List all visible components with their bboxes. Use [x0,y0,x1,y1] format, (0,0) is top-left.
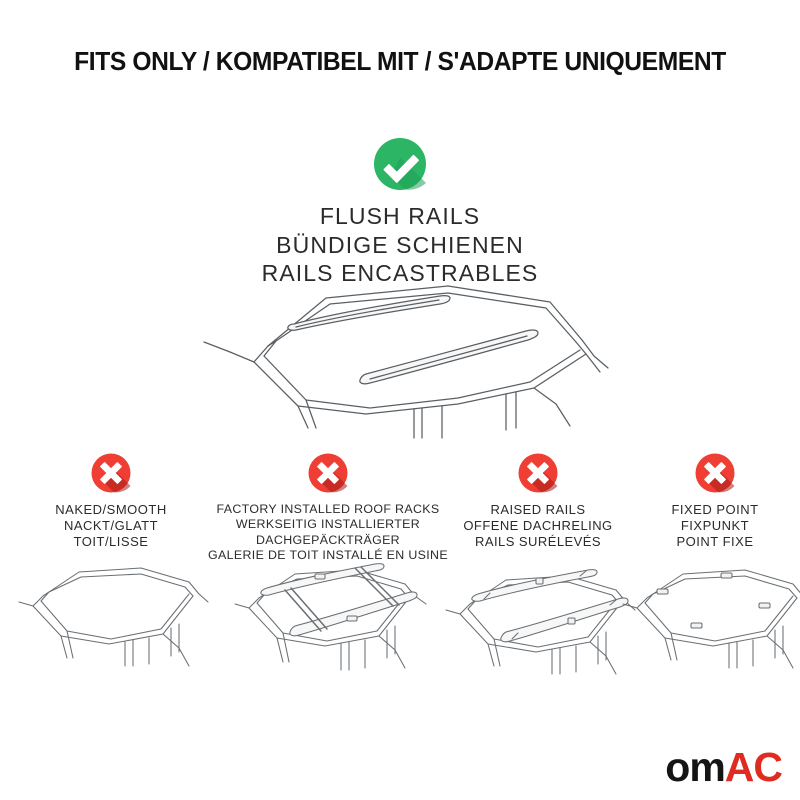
car-roof-factory-roof-racks-art [223,540,433,680]
incompatible-label-2-line-1: FACTORY INSTALLED ROOF RACKS [207,502,449,517]
car-roof-factory-roof-racks-illustration [223,540,433,670]
incompatible-item-naked-smooth: NAKED/SMOOTH NACKT/GLATT TOIT/LISSE [8,452,214,550]
x-circle-icon [517,452,559,494]
x-circle-icon-wrap-3 [517,452,559,494]
car-roof-raised-rails-art [440,554,636,684]
omac-logo-part-ac: AC [725,744,782,790]
compatibility-infographic: FITS ONLY / KOMPATIBEL MIT / S'ADAPTE UN… [0,0,800,800]
car-roof-flush-rails-illustration [190,278,610,438]
x-circle-icon [307,452,349,494]
incompatible-section: NAKED/SMOOTH NACKT/GLATT TOIT/LISSE [0,452,800,702]
omac-logo-text: omAC [632,746,782,800]
x-circle-icon-wrap-2 [307,452,349,494]
car-roof-flush-rails-art [190,278,610,438]
incompatible-label-4-line-2: FIXPUNKT [630,518,800,534]
check-circle-icon-wrap [372,136,428,192]
car-roof-naked-smooth-illustration [13,554,209,684]
x-circle-icon [694,452,736,494]
check-circle-icon [372,136,428,192]
incompatible-label-2-line-2: WERKSEITIG INSTALLIERTER [207,517,449,532]
incompatible-label-1-line-3: TOIT/LISSE [8,534,214,550]
compatible-section: FLUSH RAILS BÜNDIGE SCHIENEN RAILS ENCAS… [0,136,800,288]
x-circle-icon [90,452,132,494]
car-roof-fixed-point-illustration [617,554,800,684]
incompatible-labels-1: NAKED/SMOOTH NACKT/GLATT TOIT/LISSE [8,502,214,550]
incompatible-label-4-line-1: FIXED POINT [630,502,800,518]
incompatible-label-3-line-3: RAILS SURÉLEVÉS [443,534,633,550]
omac-logo: omAC [632,746,782,788]
incompatible-labels-4: FIXED POINT FIXPUNKT POINT FIXE [630,502,800,550]
car-roof-fixed-point-art [617,554,800,684]
incompatible-label-3-line-1: RAISED RAILS [443,502,633,518]
compatible-label-line-1: FLUSH RAILS [0,202,800,231]
incompatible-label-1-line-1: NAKED/SMOOTH [8,502,214,518]
incompatible-label-4-line-3: POINT FIXE [630,534,800,550]
header: FITS ONLY / KOMPATIBEL MIT / S'ADAPTE UN… [0,48,800,77]
omac-logo-part-om: om [665,744,725,790]
incompatible-labels-3: RAISED RAILS OFFENE DACHRELING RAILS SUR… [443,502,633,550]
incompatible-item-fixed-point: FIXED POINT FIXPUNKT POINT FIXE [630,452,800,550]
incompatible-label-3-line-2: OFFENE DACHRELING [443,518,633,534]
page-title: FITS ONLY / KOMPATIBEL MIT / S'ADAPTE UN… [14,48,786,77]
car-roof-naked-smooth-art [13,554,209,684]
incompatible-label-1-line-2: NACKT/GLATT [8,518,214,534]
car-roof-raised-rails-illustration [440,554,636,684]
compatible-label-line-2: BÜNDIGE SCHIENEN [0,231,800,260]
incompatible-item-raised-rails: RAISED RAILS OFFENE DACHRELING RAILS SUR… [443,452,633,550]
compatible-labels: FLUSH RAILS BÜNDIGE SCHIENEN RAILS ENCAS… [0,202,800,288]
incompatible-item-factory-roof-racks: FACTORY INSTALLED ROOF RACKS WERKSEITIG … [207,452,449,563]
x-circle-icon-wrap-4 [694,452,736,494]
x-circle-icon-wrap-1 [90,452,132,494]
